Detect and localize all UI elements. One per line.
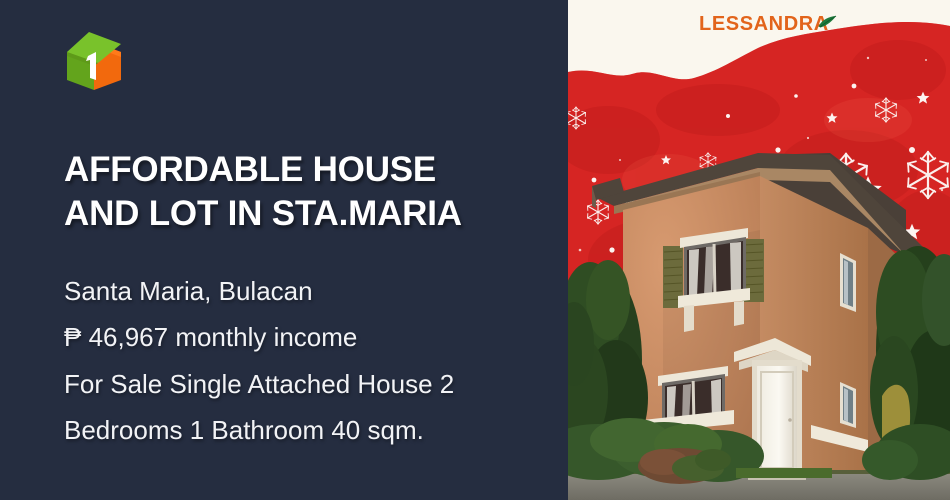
- house-illustration: [568, 153, 950, 500]
- house-photo-scene: [568, 0, 950, 500]
- right-image-panel: LESSANDRA: [568, 0, 950, 500]
- left-info-panel: AFFORDABLE HOUSE AND LOT IN STA.MARIA Sa…: [0, 0, 568, 500]
- property-income: ₱ 46,967 monthly income: [64, 314, 554, 360]
- property-description: For Sale Single Attached House 2 Bedroom…: [64, 361, 554, 454]
- headline-line-1: AFFORDABLE HOUSE: [64, 148, 544, 192]
- page-title: AFFORDABLE HOUSE AND LOT IN STA.MARIA: [64, 148, 544, 237]
- headline-line-2: AND LOT IN STA.MARIA: [64, 192, 544, 236]
- property-location: Santa Maria, Bulacan: [64, 268, 554, 314]
- property-ad-card: AFFORDABLE HOUSE AND LOT IN STA.MARIA Sa…: [0, 0, 950, 500]
- property-details: Santa Maria, Bulacan ₱ 46,967 monthly in…: [64, 268, 554, 453]
- house-logo-icon: [63, 30, 125, 94]
